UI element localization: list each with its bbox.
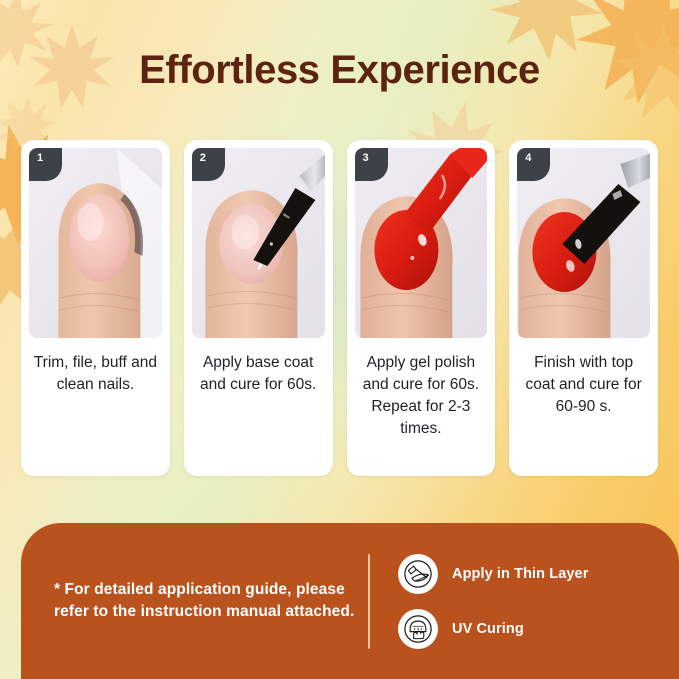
red-gel-polish-brush-photo: 3	[355, 148, 488, 338]
banner-divider	[368, 554, 370, 649]
step-caption: Apply base coat and cure for 60s.	[192, 352, 325, 396]
base-coat-brush-photo: 2	[192, 148, 325, 338]
page-title: Effortless Experience	[0, 48, 679, 93]
step-badge: 4	[517, 148, 550, 181]
step-caption: Finish with top coat and cure for 60-90 …	[517, 352, 650, 418]
feature-label: Apply in Thin Layer	[452, 566, 588, 582]
step-card-3[interactable]: 3 Apply gel polish and cure for 60s. Rep…	[347, 140, 496, 476]
banner-features: Apply in Thin Layer UV Curing	[398, 554, 588, 649]
top-coat-brush-photo: 4	[517, 148, 650, 338]
step-badge: 1	[29, 148, 62, 181]
bottom-banner: * For detailed application guide, please…	[21, 523, 679, 679]
feature-label: UV Curing	[452, 621, 524, 637]
step-card-1[interactable]: 1 Trim, file, buff and clean nails.	[21, 140, 170, 476]
instruction-note: * For detailed application guide, please…	[21, 579, 366, 624]
feature-apply-in-thin-layer: Apply in Thin Layer	[398, 554, 588, 594]
thin-layer-brush-icon	[398, 554, 438, 594]
bare-nail-photo: 1	[29, 148, 162, 338]
step-badge: 2	[192, 148, 225, 181]
step-caption: Apply gel polish and cure for 60s. Repea…	[355, 352, 488, 440]
step-caption: Trim, file, buff and clean nails.	[29, 352, 162, 396]
promo-page: Effortless Experience	[0, 0, 679, 679]
step-card-2[interactable]: 2 Apply base coat and cure for 60s.	[184, 140, 333, 476]
step-badge: 3	[355, 148, 388, 181]
step-card-4[interactable]: 4 Finish with top coat and cure for 60-9…	[509, 140, 658, 476]
feature-uv-curing: UV Curing	[398, 609, 588, 649]
uv-lamp-icon	[398, 609, 438, 649]
steps-row: 1 Trim, file, buff and clean nails.	[21, 140, 658, 476]
